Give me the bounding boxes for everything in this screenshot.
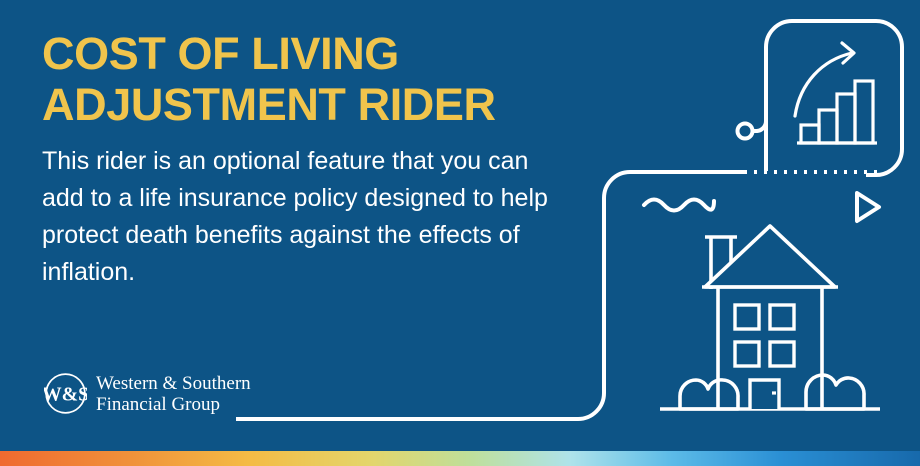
logo: W&S Western & Southern Financial Group [44, 372, 251, 415]
growth-chart-icon [795, 43, 877, 143]
page-title: COST OF LIVING ADJUSTMENT RIDER [42, 28, 602, 130]
logo-wordmark: Western & Southern Financial Group [96, 373, 251, 415]
ws-monogram-icon: W&S [44, 372, 87, 415]
bush-left-icon [680, 380, 738, 409]
logo-name-line-2: Financial Group [96, 394, 251, 415]
door [750, 380, 779, 409]
banner: COST OF LIVING ADJUSTMENT RIDER This rid… [0, 0, 920, 466]
squiggle-icon [644, 200, 714, 211]
roof [705, 226, 835, 287]
ws-monogram-text: W&S [44, 383, 87, 405]
window-top-right [770, 305, 794, 329]
connector-curve-top [753, 100, 766, 131]
headline-line-1: COST OF LIVING [42, 28, 602, 79]
path-start-dot-icon [738, 124, 753, 139]
window-bottom-right [770, 342, 794, 366]
house-icon [660, 226, 880, 409]
bush-right-icon [806, 375, 864, 409]
subcopy-text: This rider is an optional feature that y… [42, 143, 562, 291]
logo-name-line-1: Western & Southern [96, 373, 251, 394]
chart-frame-outline [766, 21, 902, 175]
window-bottom-left [735, 342, 759, 366]
play-triangle-icon [857, 193, 879, 221]
bottom-gradient-bar [0, 451, 920, 466]
window-top-left [735, 305, 759, 329]
headline-line-2: ADJUSTMENT RIDER [42, 79, 602, 130]
